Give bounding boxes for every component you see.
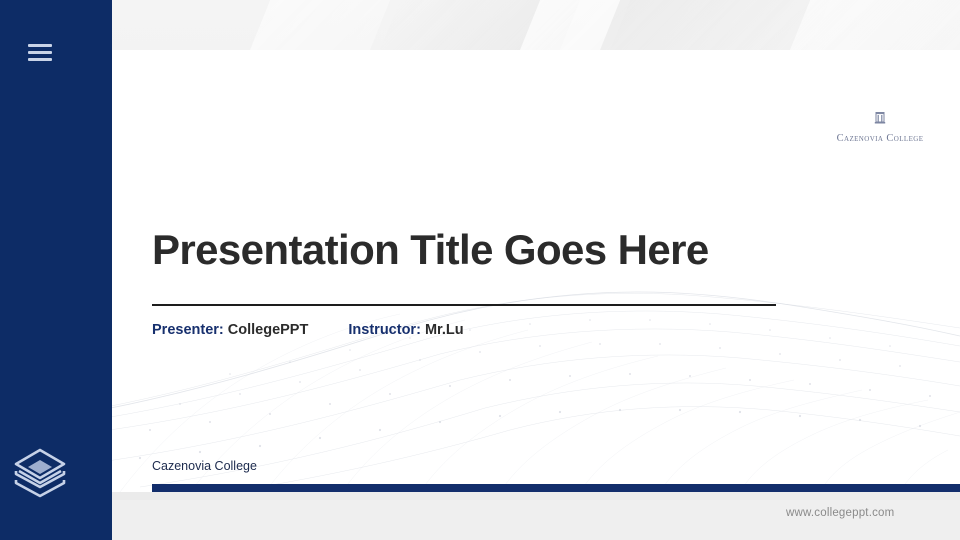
slide-footer-text: Cazenovia College <box>152 459 257 473</box>
title-divider <box>152 304 776 306</box>
layers-stack-icon[interactable] <box>11 443 69 501</box>
hamburger-menu-icon[interactable] <box>28 44 52 62</box>
college-logo: Cazenovia College <box>825 110 935 144</box>
byline: Presenter: CollegePPT Instructor: Mr.Lu <box>152 322 464 338</box>
menu-bar <box>28 51 52 54</box>
backdrop-footer-strip <box>0 500 960 540</box>
college-logo-name: Cazenovia College <box>825 133 935 144</box>
left-sidebar <box>0 0 112 540</box>
presenter-label: Presenter: <box>152 322 224 338</box>
presenter-value: CollegePPT <box>228 322 309 338</box>
slide-footer-bar <box>152 484 960 492</box>
slide-canvas[interactable]: Cazenovia College Presentation Title Goe… <box>80 50 960 492</box>
wireframe-terrain-mesh <box>80 262 960 492</box>
presentation-preview-window: Cazenovia College Presentation Title Goe… <box>0 0 960 540</box>
page-title: Presentation Title Goes Here <box>152 226 709 274</box>
instructor-value: Mr.Lu <box>425 322 464 338</box>
menu-bar <box>28 44 52 47</box>
college-crest-icon <box>825 110 935 131</box>
watermark-url: www.collegeppt.com <box>786 507 894 519</box>
instructor-label: Instructor: <box>348 322 421 338</box>
menu-bar <box>28 58 52 61</box>
